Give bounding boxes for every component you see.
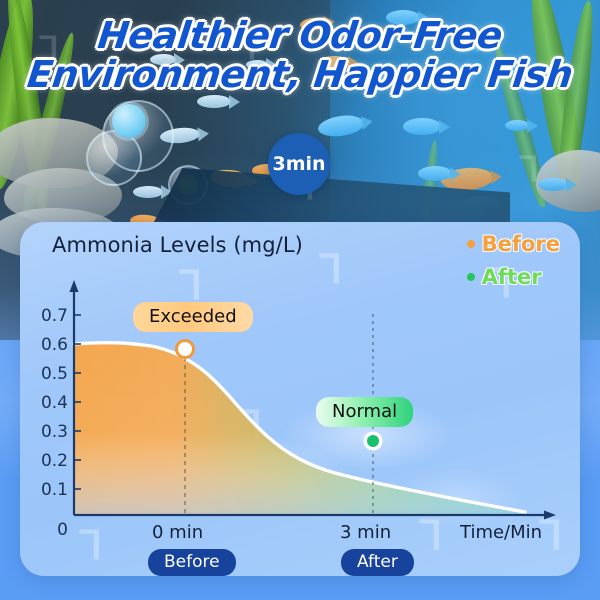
pill-before[interactable]: Before xyxy=(148,549,236,576)
headline-line-1: Healthier Odor-Free xyxy=(0,16,600,55)
y-tick-label-01: 0.1 xyxy=(26,480,68,500)
x-tick-label-0min: 0 min xyxy=(152,522,203,543)
y-axis-arrow xyxy=(70,280,79,292)
chart-title: Ammonia Levels (mg/L) xyxy=(52,233,303,257)
y-tick-label-04: 0.4 xyxy=(26,393,68,413)
y-tick-label-07: 0.7 xyxy=(26,306,68,326)
legend-label-before: Before xyxy=(482,232,560,256)
y-tick-label-06: 0.6 xyxy=(26,335,68,355)
axis-origin-label: 0 xyxy=(26,520,68,540)
x-axis-arrow xyxy=(544,511,556,520)
annotation-exceeded: Exceeded xyxy=(133,302,253,332)
pill-after[interactable]: After xyxy=(341,549,414,576)
x-axis-title: Time/Min xyxy=(460,522,542,543)
data-point-before xyxy=(177,341,194,358)
area-fill-vertical-fade xyxy=(74,343,525,515)
data-point-after xyxy=(367,435,379,447)
timer-badge-3min: 3min xyxy=(268,133,330,195)
legend-label-after: After xyxy=(482,265,542,289)
x-tick-label-3min: 3 min xyxy=(340,522,391,543)
page-title: Healthier Odor-Free Environment, Happier… xyxy=(0,16,600,94)
y-tick-label-03: 0.3 xyxy=(26,422,68,442)
legend-item-after: After xyxy=(467,265,560,289)
headline-line-2: Environment, Happier Fish xyxy=(0,55,600,94)
chart-legend: Before After xyxy=(467,232,560,298)
legend-dot-after xyxy=(467,273,475,281)
ammonia-chart-card: ⅂ ⅂ ⅂ ⅂ ⅂ ⅂ ⅂ Ammonia Levels (mg/L) Befo… xyxy=(20,222,580,576)
y-tick-label-05: 0.5 xyxy=(26,364,68,384)
y-tick-label-02: 0.2 xyxy=(26,451,68,471)
timer-badge-label: 3min xyxy=(272,153,325,175)
legend-dot-before xyxy=(467,240,475,248)
annotation-normal: Normal xyxy=(316,397,413,427)
legend-item-before: Before xyxy=(467,232,560,256)
